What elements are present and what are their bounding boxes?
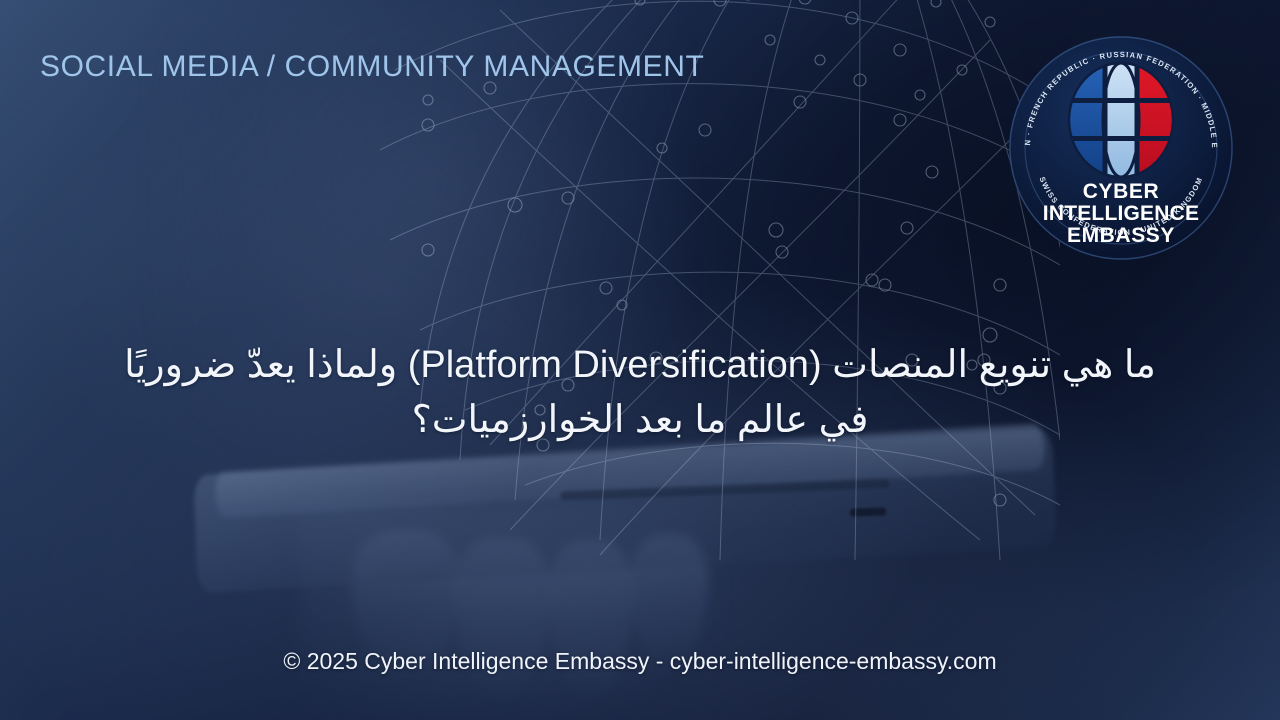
section-eyebrow-title: SOCIAL MEDIA / COMMUNITY MANAGEMENT [40,50,704,84]
presentation-slide: SOCIAL MEDIA / COMMUNITY MANAGEMENT ما ه… [0,0,1280,720]
network-globe-graphic [300,0,1060,560]
page-title: ما هي تنويع المنصات (Platform Diversific… [120,338,1160,448]
logo-wordmark-line2: INTELLIGENCE [1043,202,1199,225]
copyright-footer: © 2025 Cyber Intelligence Embassy - cybe… [0,648,1280,675]
logo-wordmark-line1: CYBER [1083,180,1160,203]
cyber-intelligence-embassy-logo: UNITED STATES OF AMERICA · EUROPEAN UNIO… [1005,32,1237,264]
logo-wordmark-line3: EMBASSY [1067,224,1175,247]
